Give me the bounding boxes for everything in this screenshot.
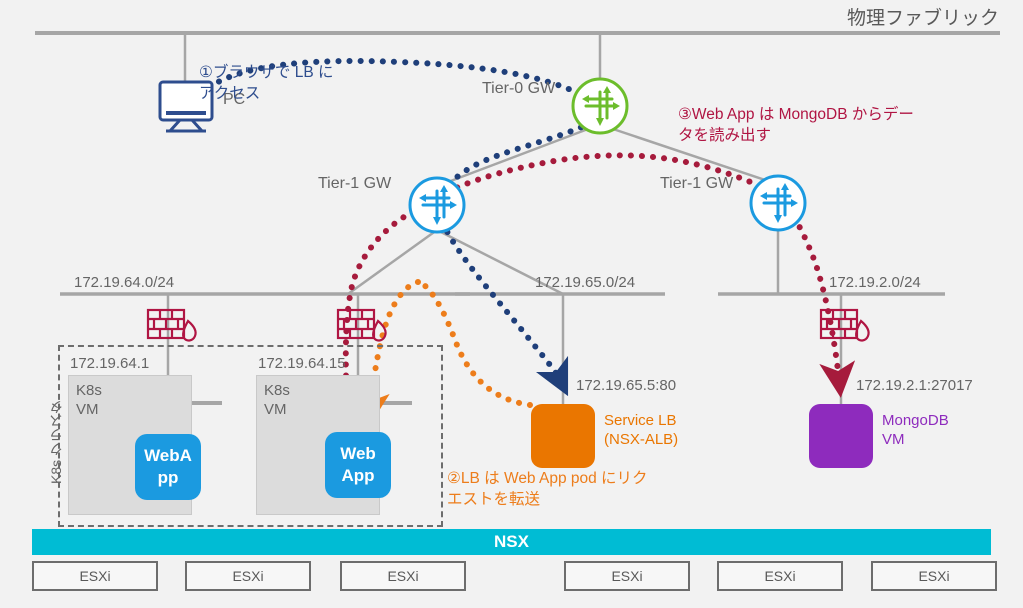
tier1-gw-right-icon [751, 176, 805, 230]
k8s-vm-label-1-line1: K8s [264, 381, 290, 400]
subnet-label-2: 172.19.2.0/24 [829, 274, 921, 291]
k8s-vm-label-1: K8s VM [264, 381, 290, 419]
mongodb-label: MongoDB VM [882, 411, 949, 449]
esxi-host-1: ESXi [185, 561, 311, 591]
annotation-step-3: ③Web App は MongoDB からデー タを読み出す [678, 104, 914, 146]
webapp-pod-0-line1: WebA [144, 445, 192, 467]
nsx-bar: NSX [32, 529, 991, 555]
esxi-host-1-label: ESXi [232, 568, 263, 584]
tier0-gw-label: Tier-0 GW [482, 80, 555, 98]
esxi-host-2-label: ESXi [387, 568, 418, 584]
service-lb-icon[interactable] [531, 404, 595, 468]
subnet-label-0: 172.19.64.0/24 [74, 274, 174, 291]
mongodb-label-line1: MongoDB [882, 411, 949, 430]
tier1-gw-left-label: Tier-1 GW [318, 175, 391, 193]
service-lb-endpoint: 172.19.65.5:80 [576, 377, 676, 394]
k8s-cluster-label: K8s クラスタ [46, 400, 66, 484]
annotation-step-2-line1: ②LB は Web App pod にリク [447, 468, 648, 489]
webapp-pod-0[interactable]: WebA pp [135, 434, 201, 500]
vm-ip-0: 172.19.64.1 [70, 355, 149, 372]
k8s-vm-label-0-line2: VM [76, 400, 102, 419]
k8s-vm-label-0: K8s VM [76, 381, 102, 419]
nsx-bar-label: NSX [494, 532, 529, 552]
esxi-host-3: ESXi [564, 561, 690, 591]
service-lb-label: Service LB (NSX-ALB) [604, 411, 678, 449]
webapp-pod-0-line2: pp [144, 467, 192, 489]
firewall-icon-1 [148, 310, 196, 340]
annotation-step-1-line1: ①ブラウザで LB に [199, 62, 333, 83]
physical-fabric-bus [35, 33, 1000, 84]
firewall-icon-3 [821, 310, 869, 340]
k8s-vm-label-0-line1: K8s [76, 381, 102, 400]
annotation-step-3-line2: タを読み出す [678, 125, 914, 146]
esxi-host-5: ESXi [871, 561, 997, 591]
firewall-icon-2 [338, 310, 386, 340]
page-title: 物理ファブリック [847, 3, 999, 30]
mongodb-label-line2: VM [882, 430, 949, 449]
esxi-host-2: ESXi [340, 561, 466, 591]
annotation-step-2-line2: エストを転送 [447, 489, 648, 510]
k8s-vm-label-1-line2: VM [264, 400, 290, 419]
subnet-label-1: 172.19.65.0/24 [535, 274, 635, 291]
tier1-gw-left-icon [410, 178, 464, 232]
webapp-pod-1[interactable]: Web App [325, 432, 391, 498]
tier0-gw-icon [573, 79, 627, 133]
annotation-step-1-line2: アクセス [199, 83, 333, 104]
esxi-host-3-label: ESXi [611, 568, 642, 584]
webapp-pod-1-line2: App [340, 465, 376, 487]
esxi-host-0-label: ESXi [79, 568, 110, 584]
flow-step1-browser-to-lb [188, 61, 601, 380]
webapp-pod-1-line1: Web [340, 443, 376, 465]
esxi-host-4-label: ESXi [764, 568, 795, 584]
annotation-step-3-line1: ③Web App は MongoDB からデー [678, 104, 914, 125]
esxi-host-4: ESXi [717, 561, 843, 591]
diagram-canvas: 物理ファブリック PC Tier-0 GW Tier-1 GW Tier-1 G… [0, 0, 1023, 608]
service-lb-label-line2: (NSX-ALB) [604, 430, 678, 449]
tier1-gw-right-label: Tier-1 GW [660, 175, 733, 193]
annotation-step-1: ①ブラウザで LB に アクセス [199, 62, 333, 104]
esxi-host-0: ESXi [32, 561, 158, 591]
annotation-step-2: ②LB は Web App pod にリク エストを転送 [447, 468, 648, 510]
esxi-host-5-label: ESXi [918, 568, 949, 584]
service-lb-label-line1: Service LB [604, 411, 678, 430]
mongodb-endpoint: 172.19.2.1:27017 [856, 377, 973, 394]
vm-ip-1: 172.19.64.15 [258, 355, 346, 372]
mongodb-icon[interactable] [809, 404, 873, 468]
